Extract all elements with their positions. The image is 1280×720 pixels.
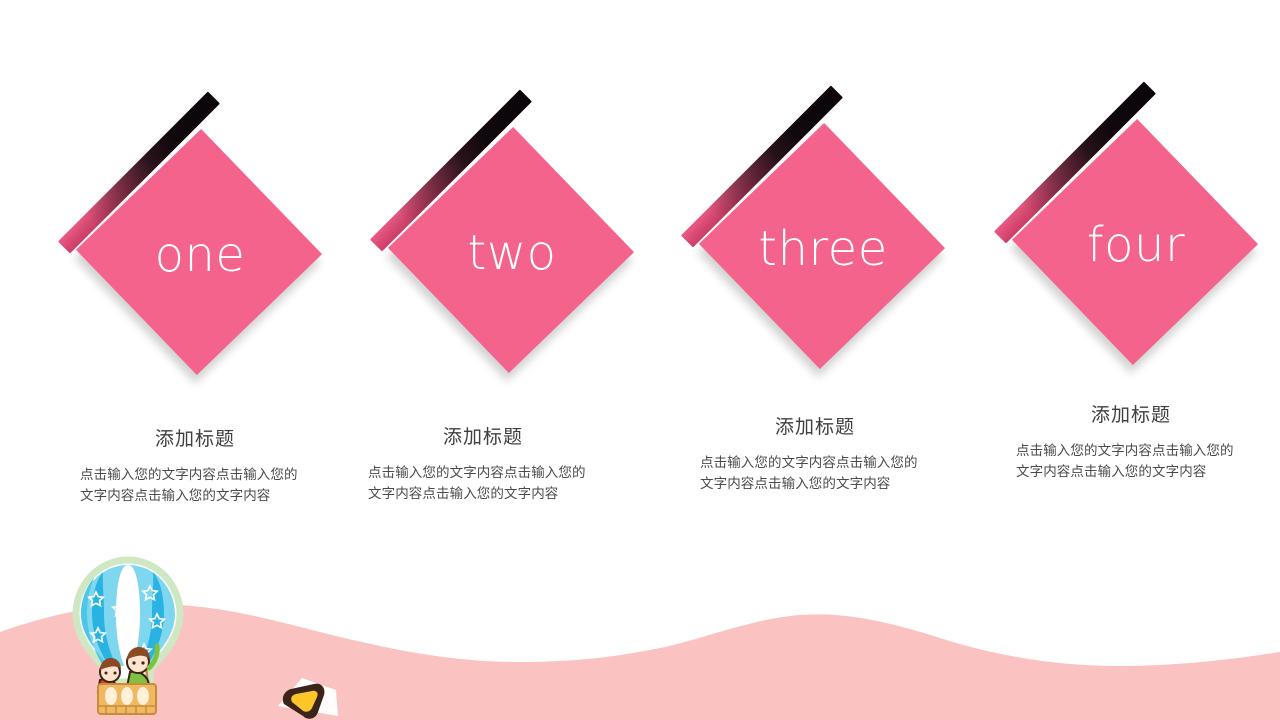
caption-block-two: 添加标题 点击输入您的文字内容点击输入您的文字内容点击输入您的文字内容 [368,422,598,505]
caption-title: 添加标题 [80,424,310,451]
caption-body: 点击输入您的文字内容点击输入您的文字内容点击输入您的文字内容 [80,465,310,507]
diamond-card-three[interactable]: three [673,99,973,399]
diamond-card-one[interactable]: one [50,105,350,405]
diamond-shape [699,123,945,369]
caption-block-three: 添加标题 点击输入您的文字内容点击输入您的文字内容点击输入您的文字内容 [700,412,930,495]
yellow-triangle-icon [272,676,364,720]
caption-block-one: 添加标题 点击输入您的文字内容点击输入您的文字内容点击输入您的文字内容 [80,424,310,507]
diamond-shape [388,127,634,373]
diamond-stage [986,95,1280,395]
hot-air-balloon-icon [58,556,198,720]
caption-title: 添加标题 [1016,400,1246,427]
diamond-card-two[interactable]: two [362,103,662,403]
diamond-stage [362,103,662,403]
diamond-card-four[interactable]: four [986,95,1280,395]
bottom-wave [0,560,1280,720]
caption-body: 点击输入您的文字内容点击输入您的文字内容点击输入您的文字内容 [368,463,598,505]
caption-block-four: 添加标题 点击输入您的文字内容点击输入您的文字内容点击输入您的文字内容 [1016,400,1246,483]
slide-canvas: one two three four 添加标题 点击输入您的文字内容点击输入您的… [0,0,1280,720]
caption-title: 添加标题 [700,412,930,439]
caption-title: 添加标题 [368,422,598,449]
diamond-shape [1012,119,1258,365]
caption-body: 点击输入您的文字内容点击输入您的文字内容点击输入您的文字内容 [700,453,930,495]
diamond-stage [50,105,350,405]
diamond-shape [76,129,322,375]
diamond-stage [673,99,973,399]
caption-body: 点击输入您的文字内容点击输入您的文字内容点击输入您的文字内容 [1016,441,1246,483]
